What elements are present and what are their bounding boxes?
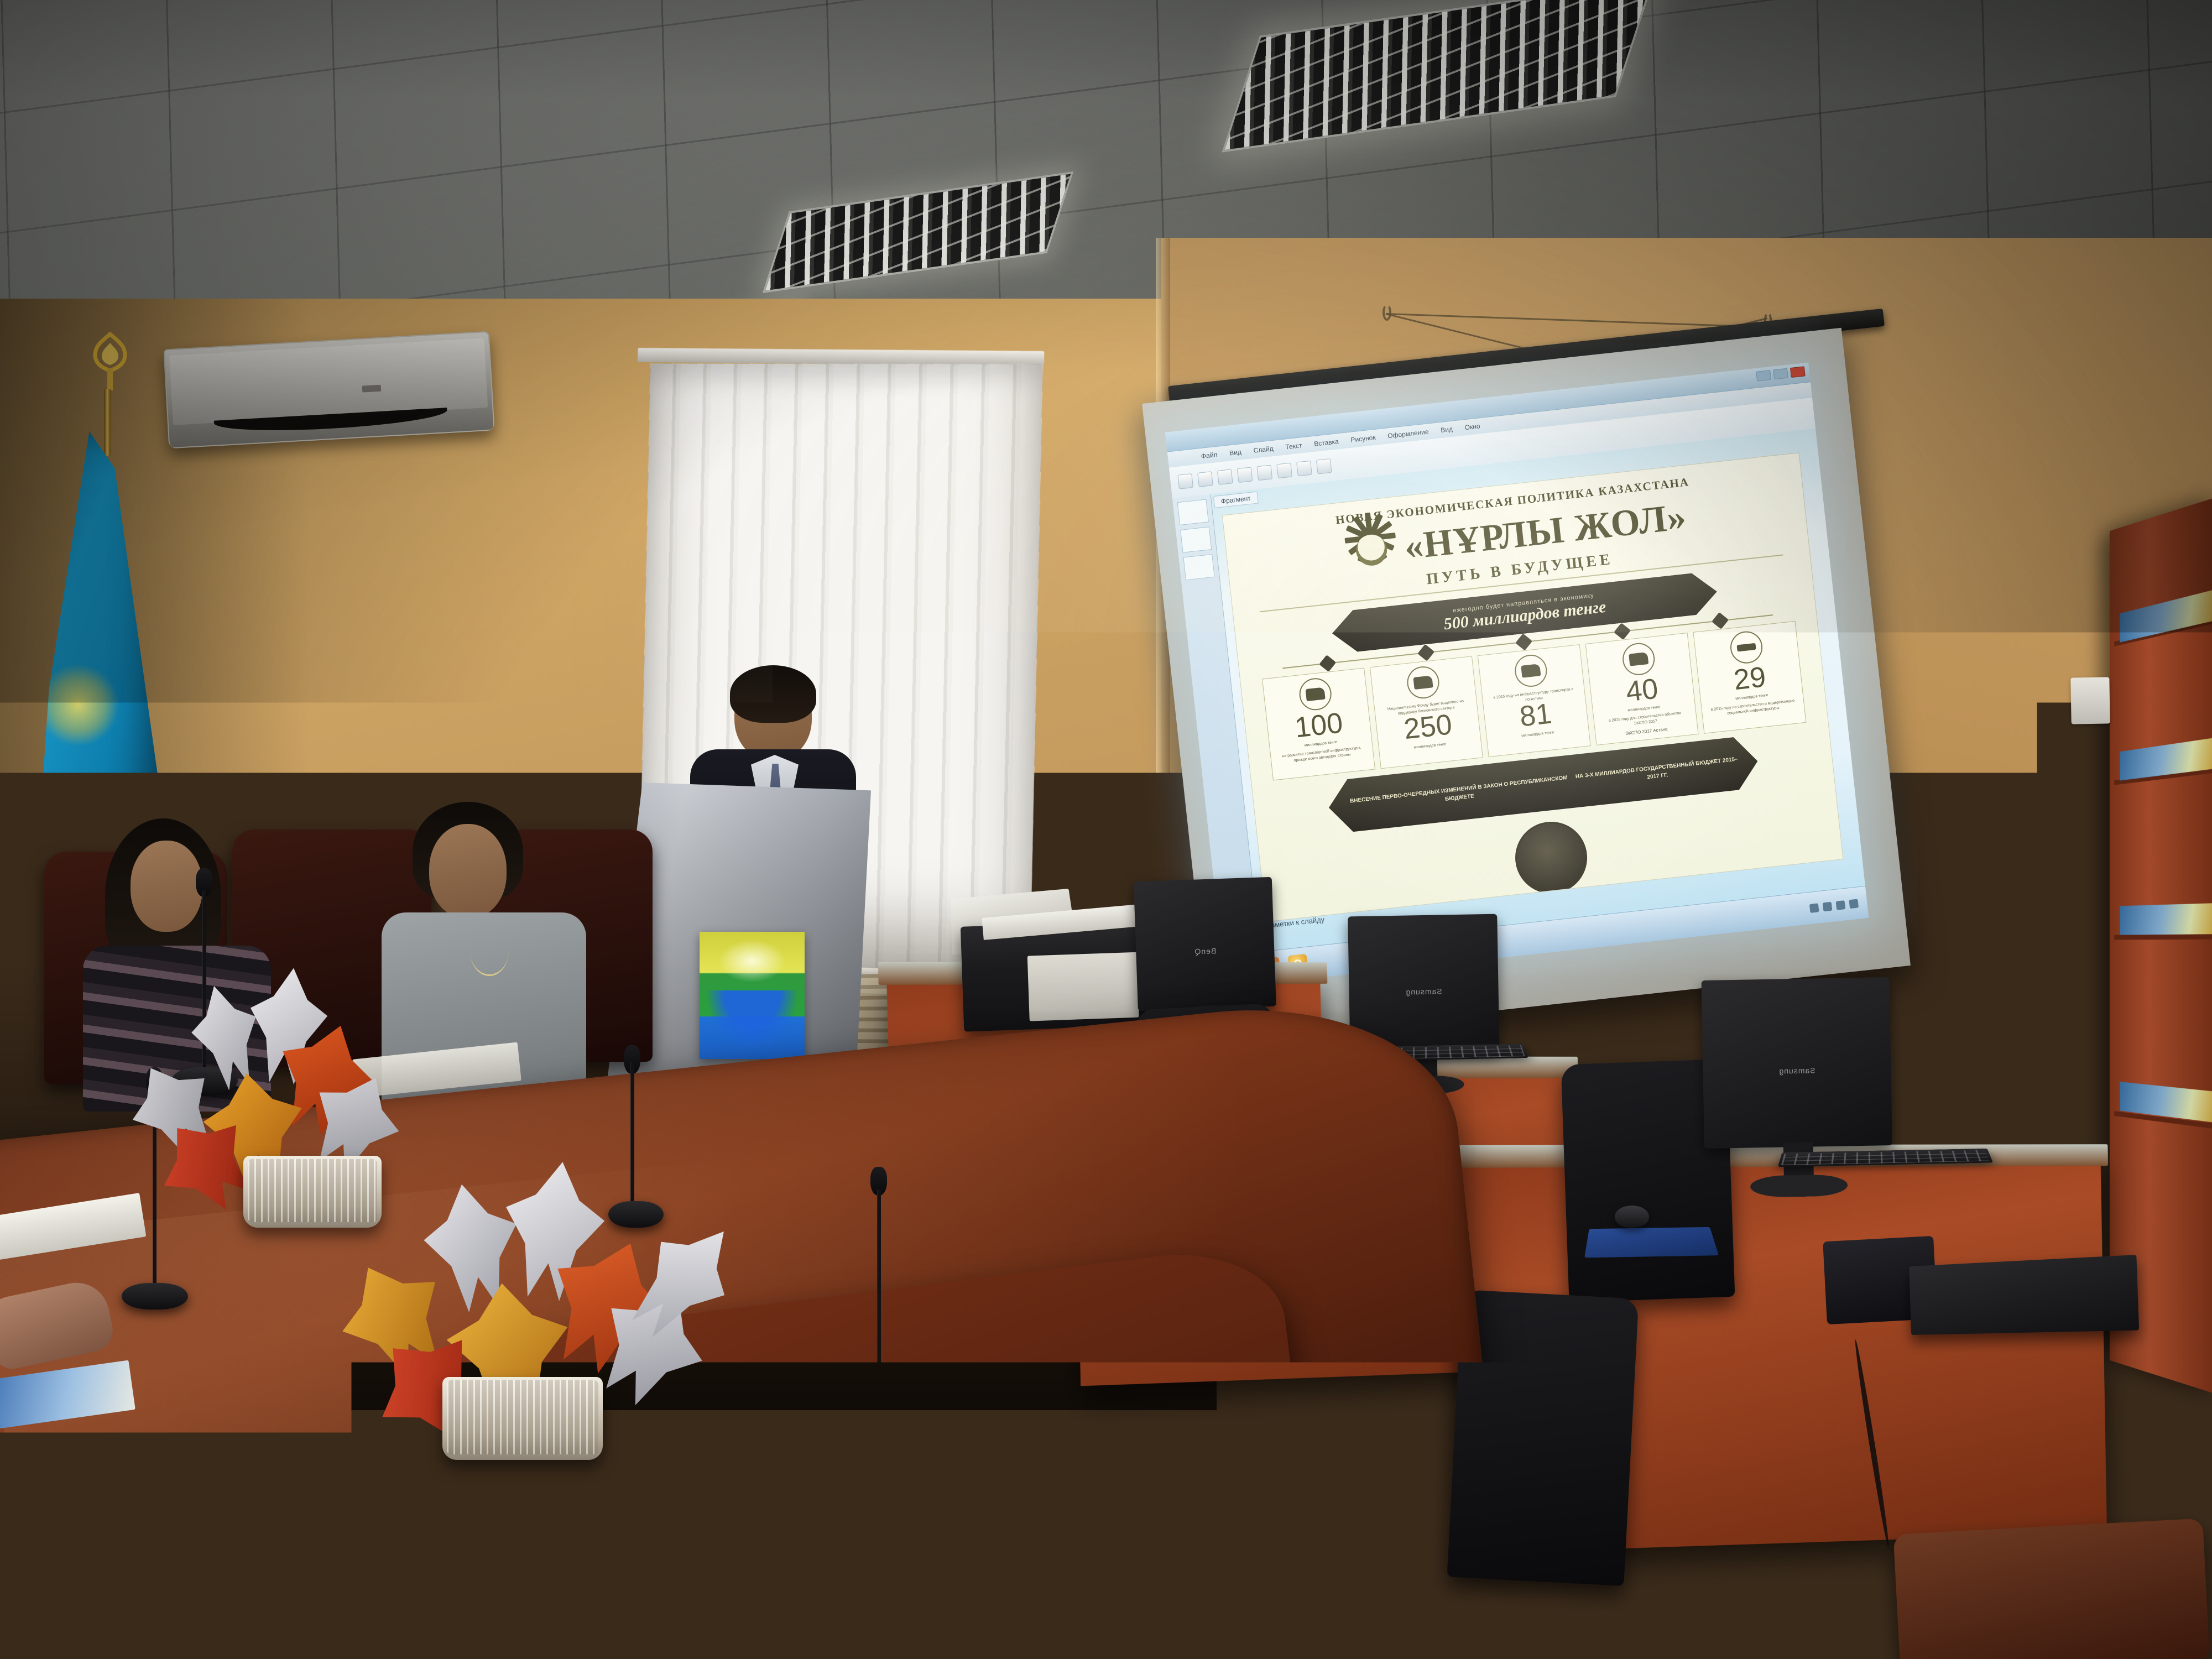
stat-card: 29 миллиардов тенге в 2015 году на строи…	[1693, 621, 1806, 734]
flag-sun-emblem-icon	[36, 664, 119, 747]
microphone-icon[interactable]	[824, 1167, 935, 1454]
slide-thumbnail[interactable]	[1183, 554, 1214, 580]
monitor-brand: Samsung	[1405, 987, 1442, 996]
open-icon[interactable]	[1197, 471, 1213, 487]
network-icon[interactable]	[1823, 901, 1833, 911]
menu-item[interactable]: Текст	[1285, 441, 1303, 451]
minimize-icon[interactable]	[1756, 370, 1771, 382]
stat-card: 100 миллиардов тенге на развитие транспо…	[1262, 667, 1375, 780]
slide-wheel-graphic	[1511, 818, 1590, 897]
conference-room-photo: Файл Вид Слайд Текст Вставка Рисунок Офо…	[0, 0, 2212, 1659]
shape-icon[interactable]	[1316, 458, 1332, 474]
slide-thumbnail[interactable]	[1180, 526, 1212, 552]
stat-value: 40	[1625, 675, 1660, 706]
close-icon[interactable]	[1790, 366, 1806, 378]
print-icon[interactable]	[1237, 467, 1253, 483]
menu-item[interactable]: Рисунок	[1350, 434, 1376, 444]
flag-finial-icon	[86, 332, 134, 398]
tab-fragment[interactable]: Фрагмент	[1213, 492, 1259, 509]
language-indicator[interactable]	[1809, 903, 1819, 913]
office-chair[interactable]	[1893, 1519, 2210, 1659]
expo-badge: ЭКСПО 2017 Астана	[1625, 727, 1668, 736]
truck-icon	[1513, 653, 1548, 688]
footer-right-text: НА 3-Х МИЛЛИАРДОВ ГОСУДАРСТВЕННЫЙ БЮДЖЕТ…	[1572, 755, 1742, 790]
crane-icon	[1406, 665, 1441, 700]
stat-text: в 2015 году на строительство и модерниза…	[1706, 697, 1799, 718]
undo-icon[interactable]	[1257, 465, 1273, 481]
stat-value: 81	[1519, 701, 1553, 731]
menu-item[interactable]: Оформление	[1387, 427, 1430, 440]
slide-content: НОВАЯ ЭКОНОМИЧЕСКАЯ ПОЛИТИКА КАЗАХСТАНА	[1222, 452, 1844, 922]
stat-value: 250	[1403, 711, 1454, 743]
lectern-emblem-icon	[700, 932, 805, 1059]
menu-item[interactable]: Окно	[1464, 422, 1480, 431]
attendee-head	[429, 824, 507, 918]
mouse-icon[interactable]	[1615, 1206, 1649, 1228]
wall-outlet-icon[interactable]	[2070, 677, 2110, 724]
presenter-hair	[730, 665, 816, 723]
flag-pole	[104, 389, 111, 456]
stat-text: в 2015 году для строительства объектов Э…	[1599, 709, 1692, 731]
footer-left-text: ВНЕСЕНИЕ ПЕРВО-ОЧЕРЕДНЫХ ИЗМЕНЕНИЙ В ЗАК…	[1344, 773, 1574, 815]
stat-value: 100	[1293, 709, 1344, 742]
monitor-brand: BenQ	[1194, 946, 1216, 956]
menu-item[interactable]: Файл	[1201, 451, 1218, 460]
slide-thumbnail[interactable]	[1177, 499, 1209, 525]
image-icon[interactable]	[1296, 461, 1312, 477]
redo-icon[interactable]	[1276, 463, 1292, 479]
new-icon[interactable]	[1177, 473, 1193, 489]
rail-icon	[1729, 630, 1764, 665]
menu-item[interactable]: Вид	[1441, 425, 1453, 434]
screen-hook-icon	[1383, 304, 1391, 321]
projection-screen: Файл Вид Слайд Текст Вставка Рисунок Офо…	[1200, 315, 1891, 1023]
clock[interactable]	[1849, 899, 1859, 909]
stat-text: на развитие транспортной инфраструктуры,…	[1275, 744, 1369, 765]
factory-icon	[1298, 676, 1333, 712]
stat-card: Национальному Фонду будет выделено на по…	[1370, 656, 1483, 769]
stat-card: 40 миллиардов тенге в 2015 году для стро…	[1585, 633, 1699, 745]
screen-cable	[1386, 313, 1773, 328]
system-tray	[1809, 899, 1859, 912]
menu-item[interactable]: Вставка	[1314, 437, 1339, 448]
printer-icon	[961, 920, 1146, 1031]
stat-card: в 2015 году на инфраструктуру транспорта…	[1478, 644, 1591, 757]
necklace-icon	[470, 926, 509, 976]
mouse-pad	[1584, 1227, 1719, 1258]
menu-item[interactable]: Слайд	[1253, 445, 1274, 455]
monitor-brand: Samsung	[1778, 1066, 1815, 1076]
maximize-icon[interactable]	[1773, 368, 1788, 380]
save-icon[interactable]	[1217, 469, 1233, 485]
stat-value: 29	[1733, 664, 1767, 694]
equipment-box	[1909, 1255, 2139, 1335]
menu-item[interactable]: Вид	[1229, 448, 1241, 457]
volume-icon[interactable]	[1836, 900, 1846, 910]
foreground-attendee-head	[542, 1371, 885, 1659]
sun-emblem-icon	[1343, 522, 1399, 578]
train-icon	[1621, 641, 1656, 677]
